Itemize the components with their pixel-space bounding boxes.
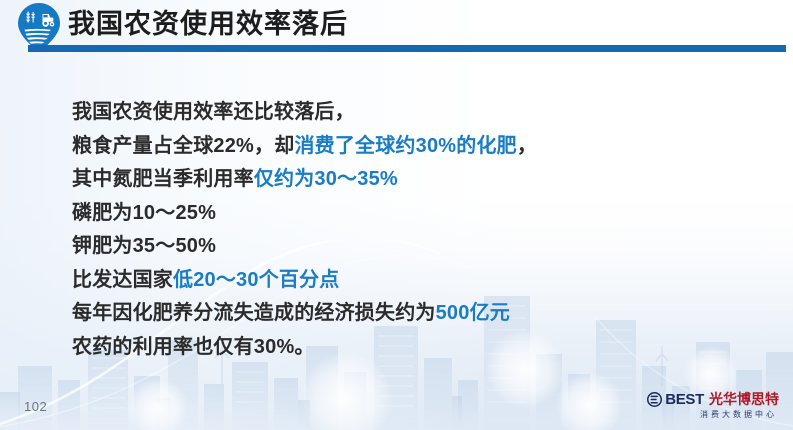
body-line: 粮食产量占全球22%，却消费了全球约30%的化肥， — [72, 130, 722, 164]
brand-name-cn: 光华博思特 — [709, 392, 779, 407]
page-title: 我国农资使用效率落后 — [68, 7, 348, 41]
body-line: 每年因化肥养分流失造成的经济损失约为500亿元 — [72, 297, 722, 331]
page-number: 102 — [24, 399, 47, 414]
plain-text: 其中氮肥当季利用率 — [72, 168, 254, 190]
slide-canvas: 我国农资使用效率落后 我国农资使用效率还比较落后，粮食产量占全球22%，却消费了… — [0, 0, 793, 430]
body-text-block: 我国农资使用效率还比较落后，粮食产量占全球22%，却消费了全球约30%的化肥，其… — [72, 96, 722, 364]
highlighted-text: 消费了全球约30%的化肥 — [294, 135, 516, 157]
plain-text: ， — [517, 135, 537, 157]
body-line: 其中氮肥当季利用率仅约为30～35% — [72, 163, 722, 197]
plain-text: 每年因化肥养分流失造成的经济损失约为 — [72, 302, 436, 324]
body-line: 我国农资使用效率还比较落后， — [72, 96, 722, 130]
body-line: 磷肥为10～25% — [72, 197, 722, 231]
highlighted-text: 仅约为30～35% — [254, 168, 398, 190]
best-b-mark-icon — [647, 392, 662, 407]
body-line: 农药的利用率也仅有30%。 — [72, 331, 722, 365]
highlighted-text: 低20～30个百分点 — [173, 269, 340, 291]
slide-header: 我国农资使用效率落后 — [0, 0, 793, 52]
body-line: 钾肥为35～50% — [72, 230, 722, 264]
brand-name-en: BEST — [665, 392, 704, 407]
brand-logo: BEST 光华博思特 消费大数据中心 — [627, 390, 779, 424]
highlighted-text: 500亿元 — [436, 302, 510, 324]
brand-tagline: 消费大数据中心 — [627, 409, 779, 421]
plain-text: 农药的利用率也仅有30%。 — [72, 336, 315, 358]
plain-text: 我国农资使用效率还比较落后， — [72, 101, 355, 123]
body-line: 比发达国家低20～30个百分点 — [72, 264, 722, 298]
header-divider-rule — [28, 45, 786, 52]
plain-text: 磷肥为10～25% — [72, 202, 216, 224]
plain-text: 比发达国家 — [72, 269, 173, 291]
plain-text: 钾肥为35～50% — [72, 235, 216, 257]
plain-text: 粮食产量占全球22%，却 — [72, 135, 294, 157]
